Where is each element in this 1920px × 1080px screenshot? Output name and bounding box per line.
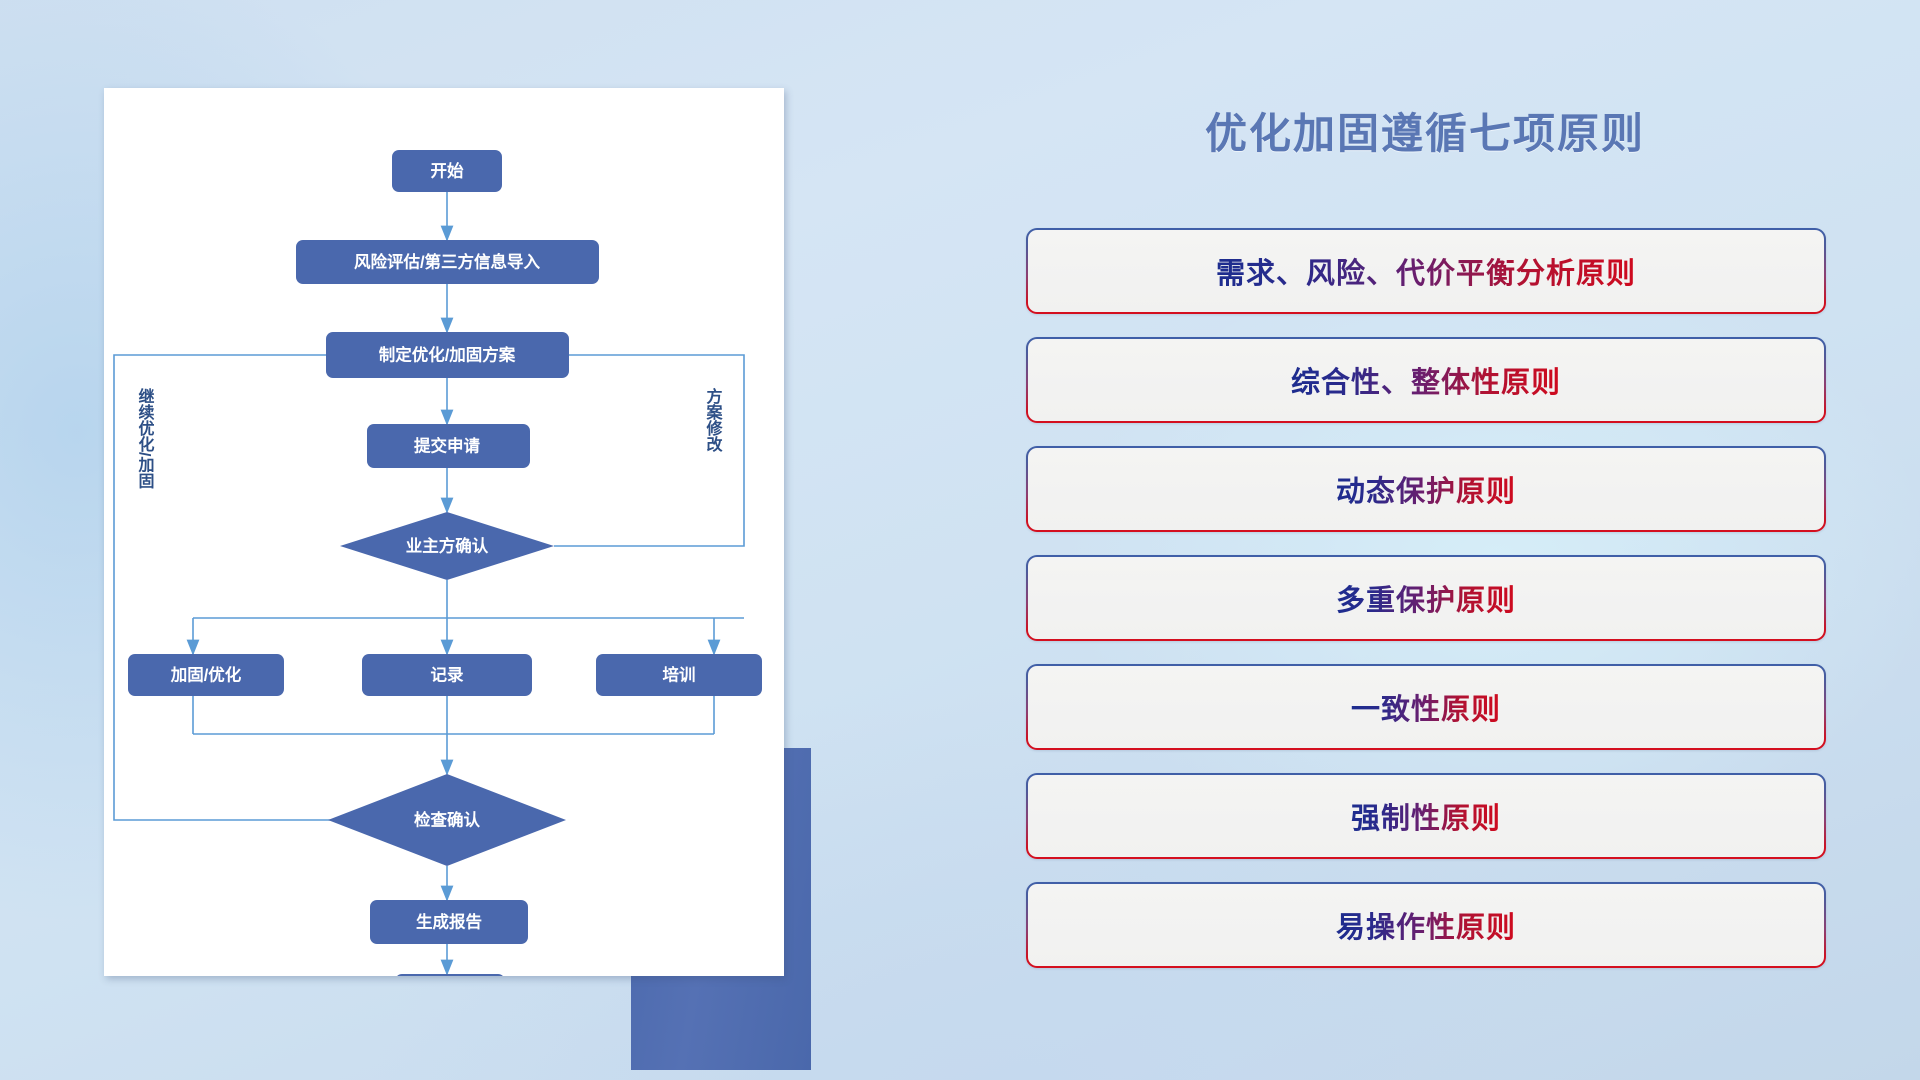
node-risk-assessment-label: 风险评估/第三方信息导入 <box>354 251 541 271</box>
node-reinforce[interactable]: 加固/优化 <box>128 654 284 696</box>
principles-list: 需求、风险、代价平衡分析原则 综合性、整体性原则 动态保护原则 多重保护原则 一… <box>1026 228 1826 991</box>
principle-label: 易操作性原则 <box>1336 904 1516 946</box>
node-train[interactable]: 培训 <box>596 654 762 696</box>
node-check-confirm-label: 检查确认 <box>414 809 481 829</box>
node-record[interactable]: 记录 <box>362 654 532 696</box>
node-plan-label: 制定优化/加固方案 <box>379 344 516 364</box>
node-submit-label: 提交申请 <box>414 435 481 455</box>
node-report-label: 生成报告 <box>416 911 482 931</box>
principle-label: 一致性原则 <box>1351 686 1501 728</box>
node-start[interactable]: 开始 <box>392 150 502 192</box>
principle-item[interactable]: 综合性、整体性原则 <box>1026 337 1826 423</box>
panel-title: 优化加固遵循七项原则 <box>1010 100 1840 161</box>
edge-label-plan-revision: 方案修改 <box>704 387 724 453</box>
flowchart-card: 开始 风险评估/第三方信息导入 制定优化/加固方案 提交申请 业主方确认 <box>104 88 784 976</box>
node-start-label: 开始 <box>431 160 465 180</box>
principle-label: 多重保护原则 <box>1336 577 1516 619</box>
principle-item[interactable]: 需求、风险、代价平衡分析原则 <box>1026 228 1826 314</box>
edge-check-replan <box>114 355 390 820</box>
node-end[interactable]: 结束 <box>395 974 505 976</box>
flowchart-panel: 开始 风险评估/第三方信息导入 制定优化/加固方案 提交申请 业主方确认 <box>104 88 794 968</box>
principles-panel: 优化加固遵循七项原则 需求、风险、代价平衡分析原则 综合性、整体性原则 动态保护… <box>1010 78 1840 1008</box>
principle-label: 动态保护原则 <box>1336 468 1516 510</box>
node-check-confirm[interactable]: 检查确认 <box>328 774 566 866</box>
edge-label-continue-optimize: 继续优化/加固 <box>136 387 156 489</box>
node-owner-confirm[interactable]: 业主方确认 <box>340 512 554 580</box>
principle-item[interactable]: 多重保护原则 <box>1026 555 1826 641</box>
principle-label: 强制性原则 <box>1351 795 1501 837</box>
node-risk-assessment[interactable]: 风险评估/第三方信息导入 <box>296 240 599 284</box>
principle-item[interactable]: 易操作性原则 <box>1026 882 1826 968</box>
principle-label: 需求、风险、代价平衡分析原则 <box>1216 250 1636 292</box>
node-train-label: 培训 <box>663 664 696 684</box>
principle-item[interactable]: 动态保护原则 <box>1026 446 1826 532</box>
node-plan[interactable]: 制定优化/加固方案 <box>326 332 569 378</box>
node-record-label: 记录 <box>431 665 465 684</box>
node-owner-confirm-label: 业主方确认 <box>406 535 489 555</box>
principle-item[interactable]: 强制性原则 <box>1026 773 1826 859</box>
flowchart-diagram: 开始 风险评估/第三方信息导入 制定优化/加固方案 提交申请 业主方确认 <box>104 88 784 976</box>
node-submit[interactable]: 提交申请 <box>367 424 530 468</box>
node-report[interactable]: 生成报告 <box>370 900 528 944</box>
node-reinforce-label: 加固/优化 <box>170 664 242 684</box>
principle-label: 综合性、整体性原则 <box>1291 359 1561 401</box>
principle-item[interactable]: 一致性原则 <box>1026 664 1826 750</box>
